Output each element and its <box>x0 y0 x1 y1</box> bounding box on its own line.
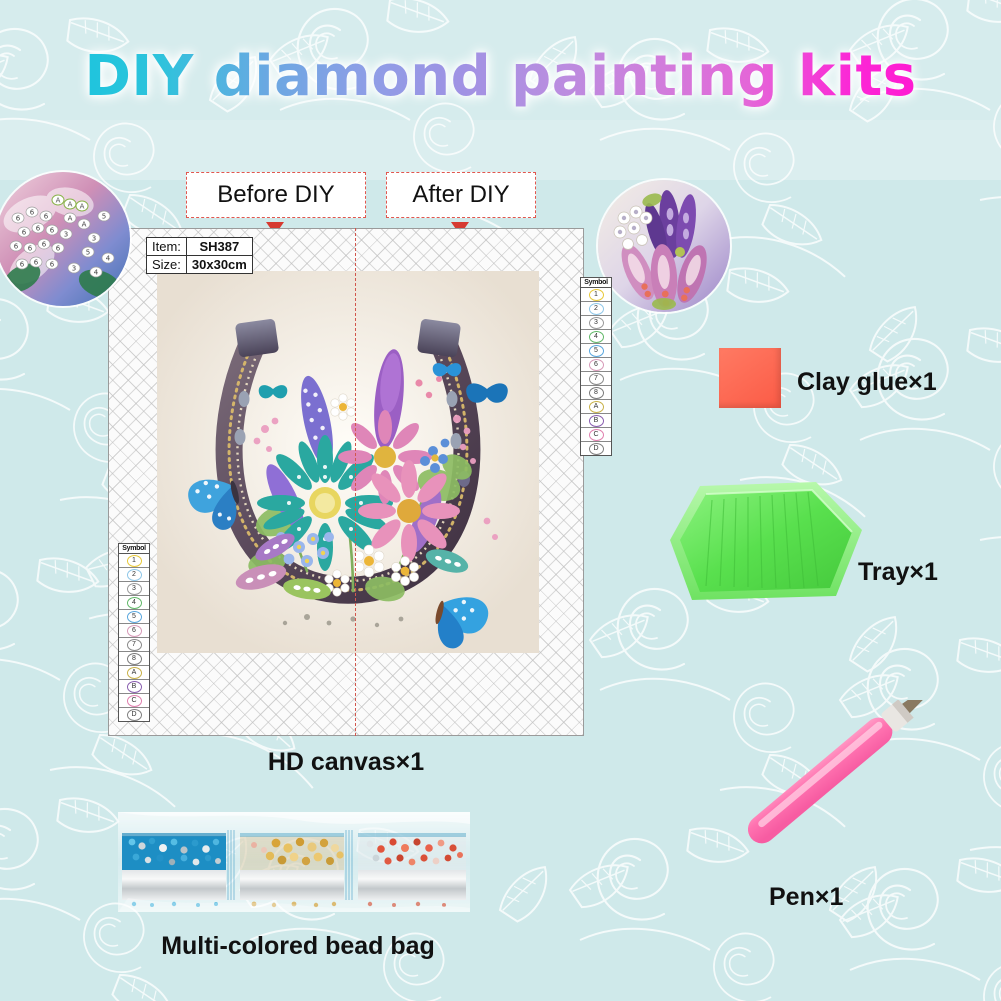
svg-text:6: 6 <box>14 243 19 251</box>
infographic-page: DIY diamond painting kits Before DIY Aft… <box>0 0 1001 1001</box>
legend-row: B <box>119 680 149 694</box>
legend-symbol-d: D <box>589 443 604 455</box>
product-info-table: Item: SH387 Size: 30x30cm <box>146 237 253 274</box>
svg-text:A: A <box>82 221 87 229</box>
svg-text:6: 6 <box>50 227 55 235</box>
hd-canvas-caption: HD canvas×1 <box>108 748 584 777</box>
after-diy-text: After DIY <box>412 181 509 209</box>
before-diy-zoom-circle: 66 66 66 66 66 66 63 AA 35 54 34 AAA <box>0 172 130 306</box>
svg-text:4: 4 <box>94 269 99 277</box>
legend-symbol-8: 8 <box>589 387 604 399</box>
legend-symbol-b: B <box>589 415 604 427</box>
horseshoe-flowers-artwork <box>157 271 539 653</box>
legend-symbol-6: 6 <box>127 625 142 637</box>
pen-label: Pen×1 <box>769 883 843 912</box>
svg-text:6: 6 <box>16 215 21 223</box>
after-diy-label: After DIY <box>386 172 536 218</box>
svg-text:3: 3 <box>92 235 96 243</box>
legend-row: 5 <box>581 344 611 358</box>
legend-row: 6 <box>119 624 149 638</box>
legend-symbol-4: 4 <box>127 597 142 609</box>
gold-bead-bag <box>240 833 344 907</box>
symbol-legend-right: Symbol12345678ABCD <box>580 277 612 456</box>
blue-bead-bag <box>122 833 226 907</box>
tray-image <box>666 478 866 606</box>
svg-text:6: 6 <box>44 213 49 221</box>
page-title-wrap: DIY diamond painting kits <box>0 44 1001 109</box>
svg-text:6: 6 <box>34 259 39 267</box>
svg-text:5: 5 <box>86 249 90 257</box>
legend-header: Symbol <box>581 278 611 288</box>
svg-text:A: A <box>68 215 73 223</box>
legend-symbol-2: 2 <box>589 303 604 315</box>
before-diy-label: Before DIY <box>186 172 366 218</box>
svg-text:6: 6 <box>30 209 35 217</box>
svg-text:6: 6 <box>20 261 25 269</box>
before-after-divider <box>355 228 356 736</box>
svg-text:6: 6 <box>36 225 41 233</box>
size-value: 30x30cm <box>186 256 252 274</box>
legend-row: A <box>119 666 149 680</box>
legend-row: 8 <box>119 652 149 666</box>
size-key: Size: <box>147 256 187 274</box>
legend-row: C <box>119 694 149 708</box>
svg-text:4: 4 <box>106 255 111 263</box>
legend-row: 6 <box>581 358 611 372</box>
before-diy-text: Before DIY <box>217 181 334 209</box>
legend-symbol-7: 7 <box>127 639 142 651</box>
legend-row: 2 <box>119 568 149 582</box>
legend-symbol-a: A <box>589 401 604 413</box>
svg-text:6: 6 <box>42 241 47 249</box>
bead-bags-image <box>118 812 470 912</box>
svg-text:6: 6 <box>22 229 27 237</box>
svg-text:6: 6 <box>28 245 33 253</box>
legend-symbol-6: 6 <box>589 359 604 371</box>
legend-symbol-1: 1 <box>589 289 604 301</box>
size-row: Size: 30x30cm <box>147 256 253 274</box>
legend-row: D <box>119 708 149 721</box>
legend-row: 4 <box>119 596 149 610</box>
legend-symbol-8: 8 <box>127 653 142 665</box>
before-diy-zoom-art: 66 66 66 66 66 66 63 AA 35 54 34 AAA <box>0 172 130 306</box>
legend-symbol-d: D <box>127 709 142 721</box>
bead-bag-caption: Multi-colored bead bag <box>100 932 496 961</box>
legend-row: 1 <box>119 554 149 568</box>
legend-row: 3 <box>581 316 611 330</box>
legend-symbol-5: 5 <box>127 611 142 623</box>
hd-canvas-image <box>108 228 584 736</box>
legend-row: 7 <box>119 638 149 652</box>
legend-symbol-a: A <box>127 667 142 679</box>
legend-symbol-3: 3 <box>589 317 604 329</box>
svg-text:5: 5 <box>102 213 106 221</box>
item-row: Item: SH387 <box>147 238 253 256</box>
legend-symbol-3: 3 <box>127 583 142 595</box>
legend-header: Symbol <box>119 544 149 554</box>
legend-symbol-1: 1 <box>127 555 142 567</box>
tray-svg <box>666 478 866 606</box>
svg-text:3: 3 <box>64 231 68 239</box>
after-diy-zoom-circle <box>598 180 730 312</box>
red-bead-bag <box>358 833 466 907</box>
after-diy-zoom-art <box>598 180 730 312</box>
clay-glue-image <box>719 348 781 408</box>
legend-symbol-7: 7 <box>589 373 604 385</box>
legend-symbol-c: C <box>589 429 604 441</box>
legend-row: 8 <box>581 386 611 400</box>
canvas-artwork <box>157 271 539 653</box>
legend-row: 2 <box>581 302 611 316</box>
legend-row: C <box>581 428 611 442</box>
legend-row: 7 <box>581 372 611 386</box>
item-key: Item: <box>147 238 187 256</box>
legend-row: D <box>581 442 611 455</box>
pen-image <box>660 700 940 900</box>
svg-text:3: 3 <box>72 265 76 273</box>
legend-symbol-c: C <box>127 695 142 707</box>
clay-glue-label: Clay glue×1 <box>797 368 937 397</box>
svg-text:A: A <box>56 197 61 205</box>
legend-row: 1 <box>581 288 611 302</box>
legend-row: B <box>581 414 611 428</box>
item-value: SH387 <box>186 238 252 256</box>
pen-svg <box>660 700 940 900</box>
svg-text:6: 6 <box>50 261 55 269</box>
tray-label: Tray×1 <box>858 558 938 587</box>
svg-text:A: A <box>68 201 73 209</box>
page-title: DIY diamond painting kits <box>84 44 916 109</box>
bead-bags-svg <box>118 812 470 912</box>
legend-row: 4 <box>581 330 611 344</box>
svg-text:6: 6 <box>56 245 61 253</box>
legend-symbol-5: 5 <box>589 345 604 357</box>
svg-text:A: A <box>80 203 85 211</box>
legend-symbol-b: B <box>127 681 142 693</box>
legend-row: A <box>581 400 611 414</box>
symbol-legend-left: Symbol12345678ABCD <box>118 543 150 722</box>
legend-symbol-2: 2 <box>127 569 142 581</box>
legend-row: 3 <box>119 582 149 596</box>
legend-row: 5 <box>119 610 149 624</box>
legend-symbol-4: 4 <box>589 331 604 343</box>
